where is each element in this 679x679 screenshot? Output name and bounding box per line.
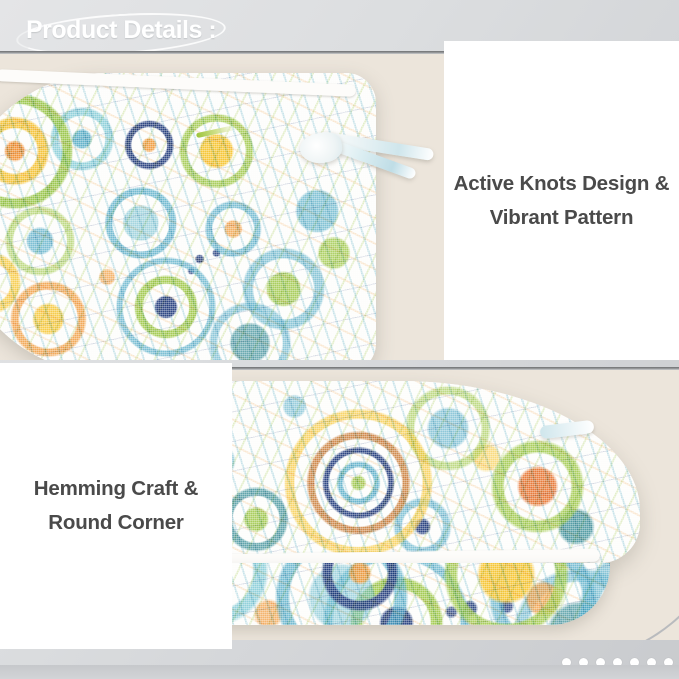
cushion-bottom-round-corner-outline [392, 367, 679, 640]
feature-photo-active-knots [0, 51, 444, 360]
feature-photo-hemming-craft [232, 367, 679, 640]
cushion-top-weave-texture [0, 73, 376, 360]
caption-line-1: Active Knots Design & [454, 172, 670, 195]
page-title-text: Product Details : [26, 16, 216, 45]
caption-text-active-knots: Active Knots Design & Vibrant Pattern [454, 167, 670, 235]
caption-line-1: Hemming Craft & [34, 477, 198, 500]
cushion-top-body [0, 73, 376, 360]
page-title: Product Details : [14, 12, 244, 56]
feature-caption-active-knots: Active Knots Design & Vibrant Pattern [444, 41, 679, 360]
bottom-edge-strip [0, 665, 679, 679]
product-details-image: Product Details : Active Knots Design & … [0, 0, 679, 679]
caption-line-2: Round Corner [48, 511, 183, 534]
caption-line-2: Vibrant Pattern [490, 206, 634, 229]
caption-text-hemming-craft: Hemming Craft & Round Corner [34, 472, 198, 540]
feature-caption-hemming-craft: Hemming Craft & Round Corner [0, 363, 232, 649]
photo-top-edge-shadow [0, 51, 444, 54]
cushion-top [0, 73, 376, 360]
